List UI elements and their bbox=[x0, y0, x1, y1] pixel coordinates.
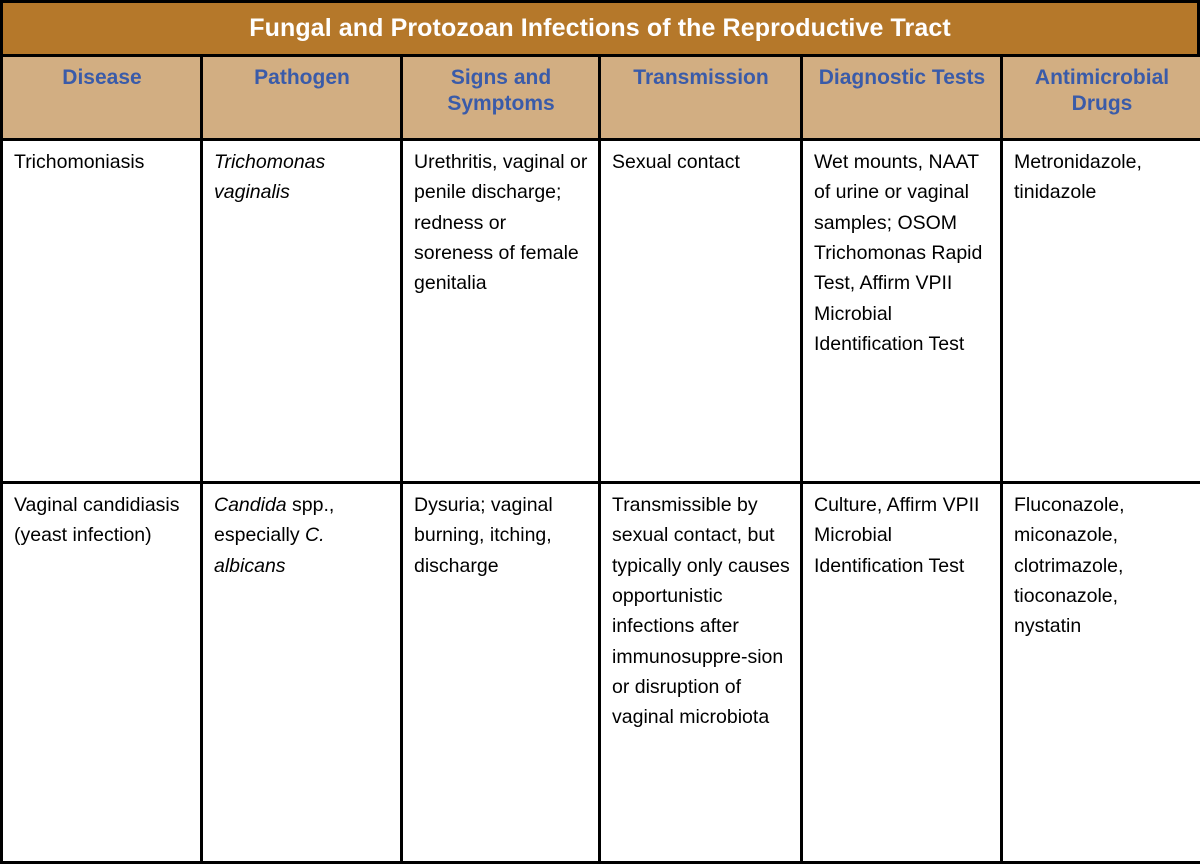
cell-disease: Trichomoniasis bbox=[14, 147, 190, 177]
column-header-transmission: Transmission bbox=[601, 57, 803, 141]
table-row: Candida spp., especially C. albicans bbox=[203, 484, 403, 861]
table-row: Vaginal candidiasis (yeast infection) bbox=[3, 484, 203, 861]
table-row: Urethritis, vaginal or penile discharge;… bbox=[403, 141, 601, 484]
table-row: Culture, Affirm VPII Microbial Identific… bbox=[803, 484, 1003, 861]
column-header-disease: Disease bbox=[3, 57, 203, 141]
cell-pathogen-genus: Candida bbox=[214, 494, 287, 516]
column-header-antimicrobial-drugs: Antimicrobial Drugs bbox=[1003, 57, 1200, 141]
table-row: Dysuria; vaginal burning, itching, disch… bbox=[403, 484, 601, 861]
column-header-label: Diagnostic Tests bbox=[814, 65, 990, 91]
column-header-label: Antimicrobial Drugs bbox=[1014, 65, 1190, 116]
cell-diagnostic-tests: Culture, Affirm VPII Microbial Identific… bbox=[814, 490, 990, 581]
cell-diagnostic-tests: Wet mounts, NAAT of urine or vaginal sam… bbox=[814, 147, 990, 359]
cell-antimicrobial-drugs: Fluconazole, miconazole, clotrimazole, t… bbox=[1014, 490, 1190, 642]
cell-transmission: Sexual contact bbox=[612, 147, 790, 177]
column-header-label: Transmission bbox=[612, 65, 790, 91]
column-header-signs-and-symptoms: Signs and Symptoms bbox=[403, 57, 601, 141]
infections-table: Fungal and Protozoan Infections of the R… bbox=[0, 0, 1200, 864]
cell-pathogen: Candida spp., especially C. albicans bbox=[214, 490, 390, 581]
page-title: Fungal and Protozoan Infections of the R… bbox=[249, 15, 951, 43]
cell-signs-symptoms: Urethritis, vaginal or penile discharge;… bbox=[414, 147, 588, 299]
cell-transmission: Transmissible by sexual contact, but typ… bbox=[612, 490, 790, 733]
table-row: Wet mounts, NAAT of urine or vaginal sam… bbox=[803, 141, 1003, 484]
column-header-label: Disease bbox=[14, 65, 190, 91]
cell-antimicrobial-drugs: Metronidazole, tinidazole bbox=[1014, 147, 1190, 208]
column-header-label: Pathogen bbox=[214, 65, 390, 91]
table-row: Trichomoniasis bbox=[3, 141, 203, 484]
table-title-bar: Fungal and Protozoan Infections of the R… bbox=[3, 3, 1197, 57]
table-row: Sexual contact bbox=[601, 141, 803, 484]
cell-disease: Vaginal candidiasis (yeast infection) bbox=[14, 490, 190, 551]
table-row: Fluconazole, miconazole, clotrimazole, t… bbox=[1003, 484, 1200, 861]
table-row: Metronidazole, tinidazole bbox=[1003, 141, 1200, 484]
table-row: Trichomonas vaginalis bbox=[203, 141, 403, 484]
table-row: Transmissible by sexual contact, but typ… bbox=[601, 484, 803, 861]
column-header-diagnostic-tests: Diagnostic Tests bbox=[803, 57, 1003, 141]
table-grid: Disease Pathogen Signs and Symptoms Tran… bbox=[3, 57, 1197, 861]
cell-pathogen: Trichomonas vaginalis bbox=[214, 147, 390, 208]
cell-signs-symptoms: Dysuria; vaginal burning, itching, disch… bbox=[414, 490, 588, 581]
column-header-pathogen: Pathogen bbox=[203, 57, 403, 141]
column-header-label: Signs and Symptoms bbox=[414, 65, 588, 116]
